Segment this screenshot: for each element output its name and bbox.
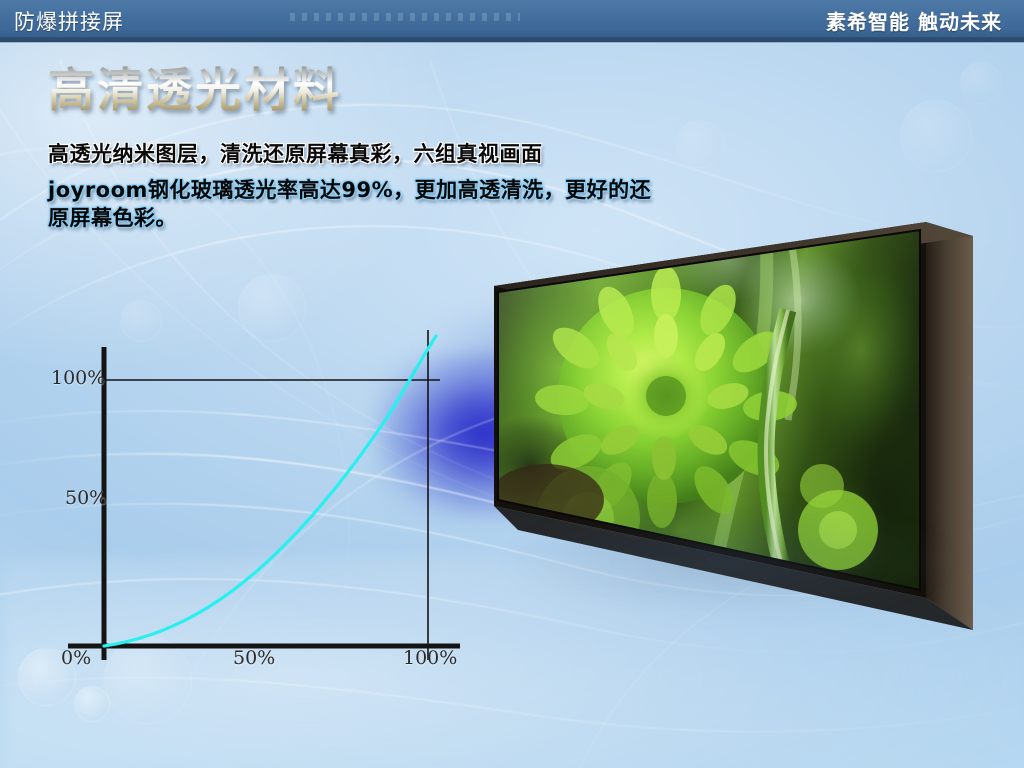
transmittance-chart: 100% 50% 0% 50% 100% [40, 320, 480, 690]
video-wall-monitor [470, 200, 1000, 670]
slide-root: 防爆拼接屏 素希智能 触动未来 高清透光材料 高透光纳米图层，清洗还原屏幕真彩，… [0, 0, 1024, 768]
monitor-shadow [500, 500, 960, 620]
x-tick-label-100: 100% [403, 647, 457, 669]
y-tick-label-50: 50% [65, 487, 107, 509]
page-title: 高清透光材料 [48, 54, 342, 120]
header-title: 防爆拼接屏 [14, 6, 124, 36]
header-bar: 防爆拼接屏 素希智能 触动未来 [0, 0, 1024, 42]
y-tick-label-100: 100% [51, 367, 105, 389]
x-tick-label-0: 0% [61, 647, 91, 669]
transmittance-curve [104, 336, 436, 646]
header-dot-pattern [290, 13, 520, 21]
x-tick-label-50: 50% [233, 647, 275, 669]
header-slogan: 素希智能 触动未来 [826, 6, 1002, 35]
feature-bullet-line: 高透光纳米图层，清洗还原屏幕真彩，六组真视画面 [48, 138, 543, 168]
